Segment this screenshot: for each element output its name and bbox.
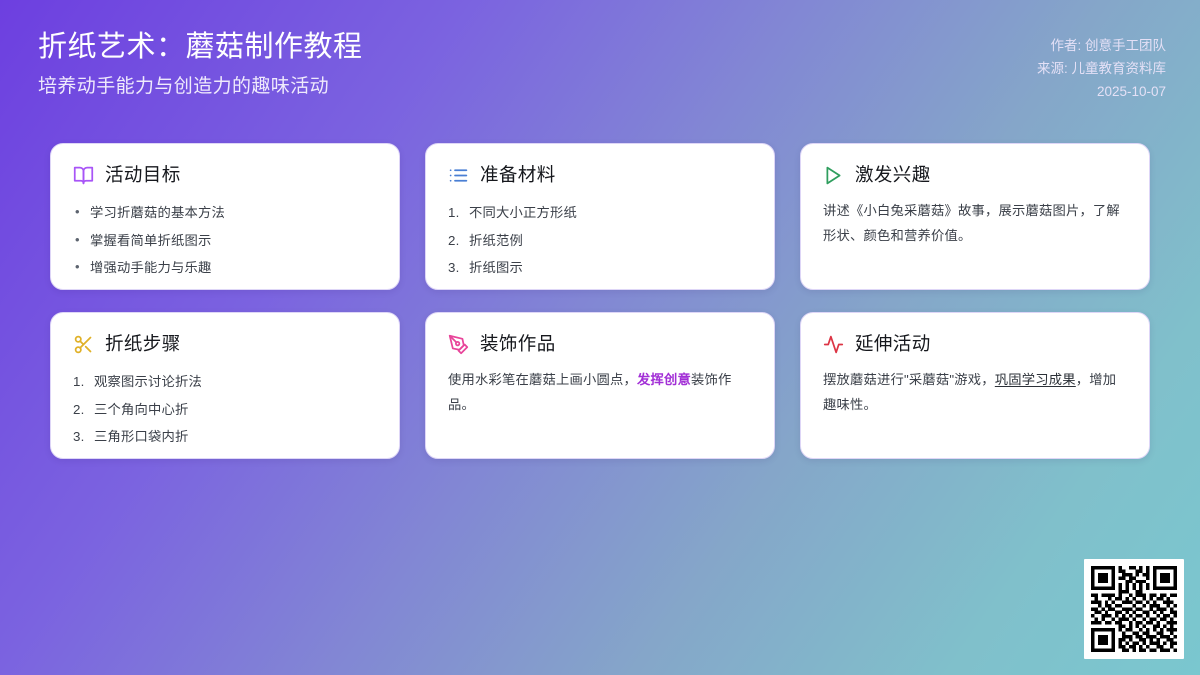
card-header: 装饰作品: [448, 333, 752, 355]
card-decorate[interactable]: 装饰作品使用水彩笔在蘑菇上画小圆点，发挥创意装饰作品。: [425, 312, 775, 459]
card-title: 装饰作品: [480, 333, 556, 355]
underlined-text[interactable]: 巩固学习成果: [995, 372, 1076, 387]
activity-icon: [823, 334, 844, 355]
list-icon: [448, 165, 469, 186]
card-title: 延伸活动: [855, 333, 931, 355]
highlight-text: 发挥创意: [637, 372, 691, 387]
header-title-block: 折纸艺术：蘑菇制作教程 培养动手能力与创造力的趣味活动: [38, 28, 363, 102]
paragraph-text: 摆放蘑菇进行"采蘑菇"游戏，: [823, 372, 995, 387]
header-meta-block: 作者: 创意手工团队 来源: 儿童教育资料库 2025-10-07: [1037, 28, 1166, 104]
list-item: 观察图示讨论折法: [73, 368, 377, 396]
list-item: 掌握看简单折纸图示: [73, 227, 377, 255]
card-steps[interactable]: 折纸步骤观察图示讨论折法三个角向中心折三角形口袋内折: [50, 312, 400, 459]
page-header: 折纸艺术：蘑菇制作教程 培养动手能力与创造力的趣味活动 作者: 创意手工团队 来…: [0, 0, 1200, 130]
card-extension[interactable]: 延伸活动摆放蘑菇进行"采蘑菇"游戏，巩固学习成果，增加趣味性。: [800, 312, 1150, 459]
play-icon: [823, 165, 844, 186]
card-paragraph: 讲述《小白兔采蘑菇》故事，展示蘑菇图片，了解形状、颜色和营养价值。: [823, 199, 1127, 248]
qr-code: [1084, 559, 1184, 659]
list-item: 折纸图示: [448, 254, 752, 282]
card-title: 折纸步骤: [105, 333, 181, 355]
meta-date: 2025-10-07: [1097, 80, 1166, 103]
pen-nib-icon: [448, 334, 469, 355]
card-header: 激发兴趣: [823, 164, 1127, 186]
meta-author: 作者: 创意手工团队: [1050, 34, 1166, 57]
card-goals[interactable]: 活动目标学习折蘑菇的基本方法掌握看简单折纸图示增强动手能力与乐趣: [50, 143, 400, 290]
card-header: 准备材料: [448, 164, 752, 186]
card-header: 折纸步骤: [73, 333, 377, 355]
list-item: 三个角向中心折: [73, 396, 377, 424]
list-item: 不同大小正方形纸: [448, 199, 752, 227]
scissors-icon: [73, 334, 94, 355]
book-open-icon: [73, 165, 94, 186]
card-grid: 活动目标学习折蘑菇的基本方法掌握看简单折纸图示增强动手能力与乐趣准备材料不同大小…: [50, 143, 1150, 459]
card-paragraph: 摆放蘑菇进行"采蘑菇"游戏，巩固学习成果，增加趣味性。: [823, 368, 1127, 417]
card-numbers-list: 不同大小正方形纸折纸范例折纸图示: [448, 199, 752, 282]
card-title: 准备材料: [480, 164, 556, 186]
card-header: 延伸活动: [823, 333, 1127, 355]
card-bullets-list: 学习折蘑菇的基本方法掌握看简单折纸图示增强动手能力与乐趣: [73, 199, 377, 282]
card-numbers-list: 观察图示讨论折法三个角向中心折三角形口袋内折: [73, 368, 377, 451]
list-item: 折纸范例: [448, 227, 752, 255]
list-item: 增强动手能力与乐趣: [73, 254, 377, 282]
meta-source: 来源: 儿童教育资料库: [1037, 57, 1166, 80]
card-title: 活动目标: [105, 164, 181, 186]
card-materials[interactable]: 准备材料不同大小正方形纸折纸范例折纸图示: [425, 143, 775, 290]
page-subtitle: 培养动手能力与创造力的趣味活动: [38, 73, 363, 102]
list-item: 三角形口袋内折: [73, 423, 377, 451]
card-paragraph: 使用水彩笔在蘑菇上画小圆点，发挥创意装饰作品。: [448, 368, 752, 417]
paragraph-text: 使用水彩笔在蘑菇上画小圆点，: [448, 372, 637, 387]
card-title: 激发兴趣: [855, 164, 931, 186]
paragraph-text: 讲述《小白兔采蘑菇》故事，展示蘑菇图片，了解形状、颜色和营养价值。: [823, 203, 1120, 242]
list-item: 学习折蘑菇的基本方法: [73, 199, 377, 227]
page-title: 折纸艺术：蘑菇制作教程: [38, 28, 363, 66]
card-interest[interactable]: 激发兴趣讲述《小白兔采蘑菇》故事，展示蘑菇图片，了解形状、颜色和营养价值。: [800, 143, 1150, 290]
card-header: 活动目标: [73, 164, 377, 186]
